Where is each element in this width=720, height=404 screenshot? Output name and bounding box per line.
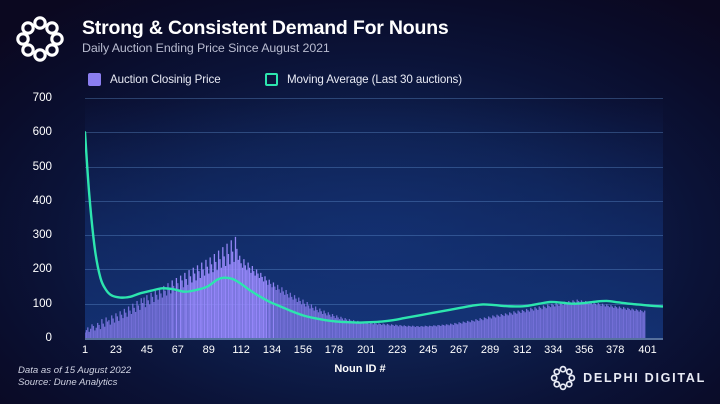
brand-watermark: DELPHI DIGITAL <box>550 365 706 391</box>
y-axis-tick: 0 <box>6 331 52 344</box>
y-axis-tick: 100 <box>6 297 52 310</box>
source-note: Data as of 15 August 2022 Source: Dune A… <box>18 365 131 389</box>
y-axis-tick: 300 <box>6 228 52 241</box>
moving-average-series <box>85 98 663 338</box>
y-axis-tick: 600 <box>6 125 52 138</box>
y-axis-tick: 200 <box>6 262 52 275</box>
x-axis-tick: 401 <box>626 344 670 356</box>
y-axis-tick: 400 <box>6 194 52 207</box>
brand-text: DELPHI DIGITAL <box>583 371 706 385</box>
chart-screenshot: Strong & Consistent Demand For Nouns Dai… <box>0 0 720 404</box>
chart-canvas: Auction Price (ETH) 01002003004005006007… <box>0 0 720 404</box>
y-axis-tick: 500 <box>6 160 52 173</box>
x-axis-baseline <box>85 338 663 340</box>
source-note-line2: Source: Dune Analytics <box>18 377 131 389</box>
y-axis-tick: 700 <box>6 91 52 104</box>
plot-area <box>85 98 663 338</box>
delphi-ring-logo-icon <box>550 365 576 391</box>
moving-average-line <box>85 132 663 322</box>
source-note-line1: Data as of 15 August 2022 <box>18 365 131 377</box>
